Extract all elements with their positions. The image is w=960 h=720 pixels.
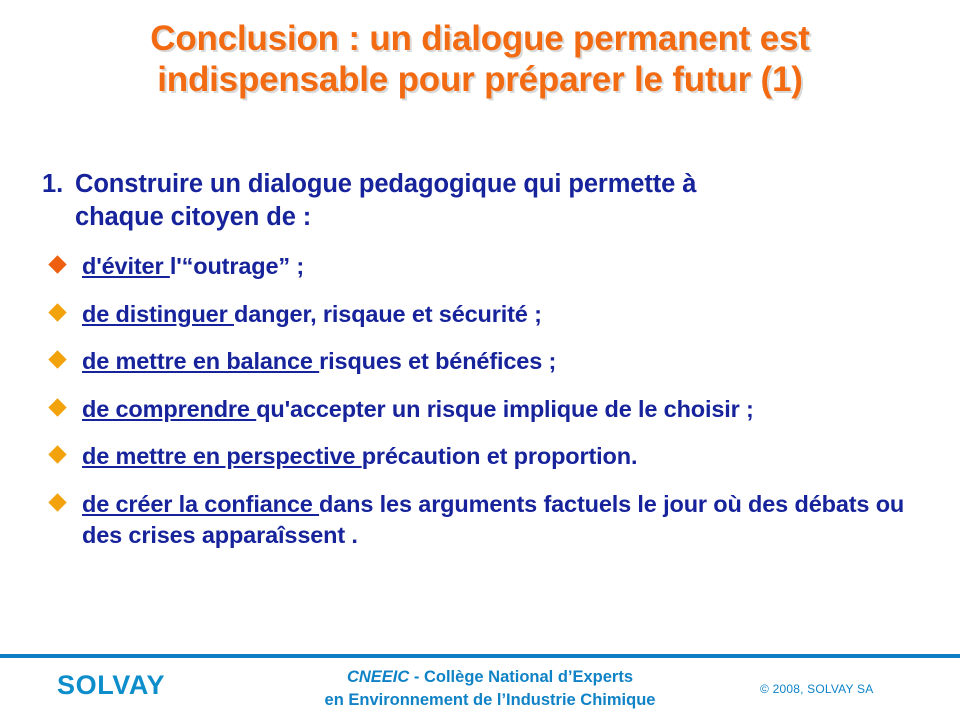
bullet-item-text: de créer la confiance dans les arguments… [82,489,942,550]
bullet-marker [42,394,82,414]
footer-divider [0,654,960,658]
diamond-bullet-icon [48,351,66,369]
bullet-list-item: de créer la confiance dans les arguments… [42,489,942,550]
bullet-list-item: de mettre en balance risques et bénéfice… [42,346,942,377]
bullet-marker [42,346,82,366]
bullet-item-remainder: danger, risqaue et sécurité ; [234,301,542,327]
bullet-item-remainder: risques et bénéfices ; [319,348,556,374]
slide-title-line-2: indispensable pour préparer le futur (1) [0,59,960,100]
bullet-list-item: de comprendre qu'accepter un risque impl… [42,394,942,425]
footer-org-acronym: CNEEIC [347,668,409,686]
bullet-item-keyphrase: de distinguer [82,301,234,327]
bullet-list-item: de distinguer danger, risqaue et sécurit… [42,299,942,330]
numbered-item-text: Construire un dialogue pedagogique qui p… [75,168,775,234]
bullet-marker [42,489,82,509]
diamond-bullet-icon [48,446,66,464]
bullet-item-keyphrase: de mettre en balance [82,348,319,374]
slide-title: Conclusion : un dialogue permanent est i… [0,18,960,101]
bullet-item-keyphrase: de mettre en perspective [82,443,362,469]
footer-org-line-2: en Environnement de l’Industrie Chimique [230,689,750,712]
bullet-item-text: de distinguer danger, risqaue et sécurit… [82,299,942,330]
bullet-marker [42,441,82,461]
bullet-marker [42,299,82,319]
bullet-list: d'éviter l'“outrage” ;de distinguer dang… [42,251,942,550]
bullet-item-remainder: précaution et proportion. [362,443,638,469]
bullet-item-text: de mettre en perspective précaution et p… [82,441,942,472]
footer-org-line-1: CNEEIC - Collège National d’Experts [230,666,750,689]
bullet-item-remainder: l'“outrage” ; [170,253,304,279]
bullet-item-keyphrase: de comprendre [82,396,256,422]
footer-org-line-1-rest: - Collège National d’Experts [409,668,633,686]
presentation-slide: Conclusion : un dialogue permanent est i… [0,0,960,720]
bullet-list-item: d'éviter l'“outrage” ; [42,251,942,282]
bullet-item-text: de comprendre qu'accepter un risque impl… [82,394,942,425]
diamond-bullet-icon [48,493,66,511]
copyright-notice: © 2008, SOLVAY SA [760,682,950,696]
bullet-list-item: de mettre en perspective précaution et p… [42,441,942,472]
solvay-logo: SOLVAY [57,670,165,701]
numbered-list-item: 1. Construire un dialogue pedagogique qu… [42,168,942,234]
bullet-item-keyphrase: de créer la confiance [82,491,319,517]
diamond-bullet-icon [48,303,66,321]
diamond-bullet-icon [48,256,66,274]
diamond-bullet-icon [48,398,66,416]
bullet-item-remainder: qu'accepter un risque implique de le cho… [256,396,754,422]
bullet-marker [42,251,82,271]
bullet-item-text: de mettre en balance risques et bénéfice… [82,346,942,377]
footer-organization-name: CNEEIC - Collège National d’Experts en E… [230,666,750,713]
bullet-item-text: d'éviter l'“outrage” ; [82,251,942,282]
list-number: 1. [42,168,75,201]
slide-title-line-1: Conclusion : un dialogue permanent est [0,18,960,59]
slide-footer: SOLVAY CNEEIC - Collège National d’Exper… [0,660,960,720]
slide-body: 1. Construire un dialogue pedagogique qu… [42,168,942,550]
bullet-item-keyphrase: d'éviter [82,253,170,279]
